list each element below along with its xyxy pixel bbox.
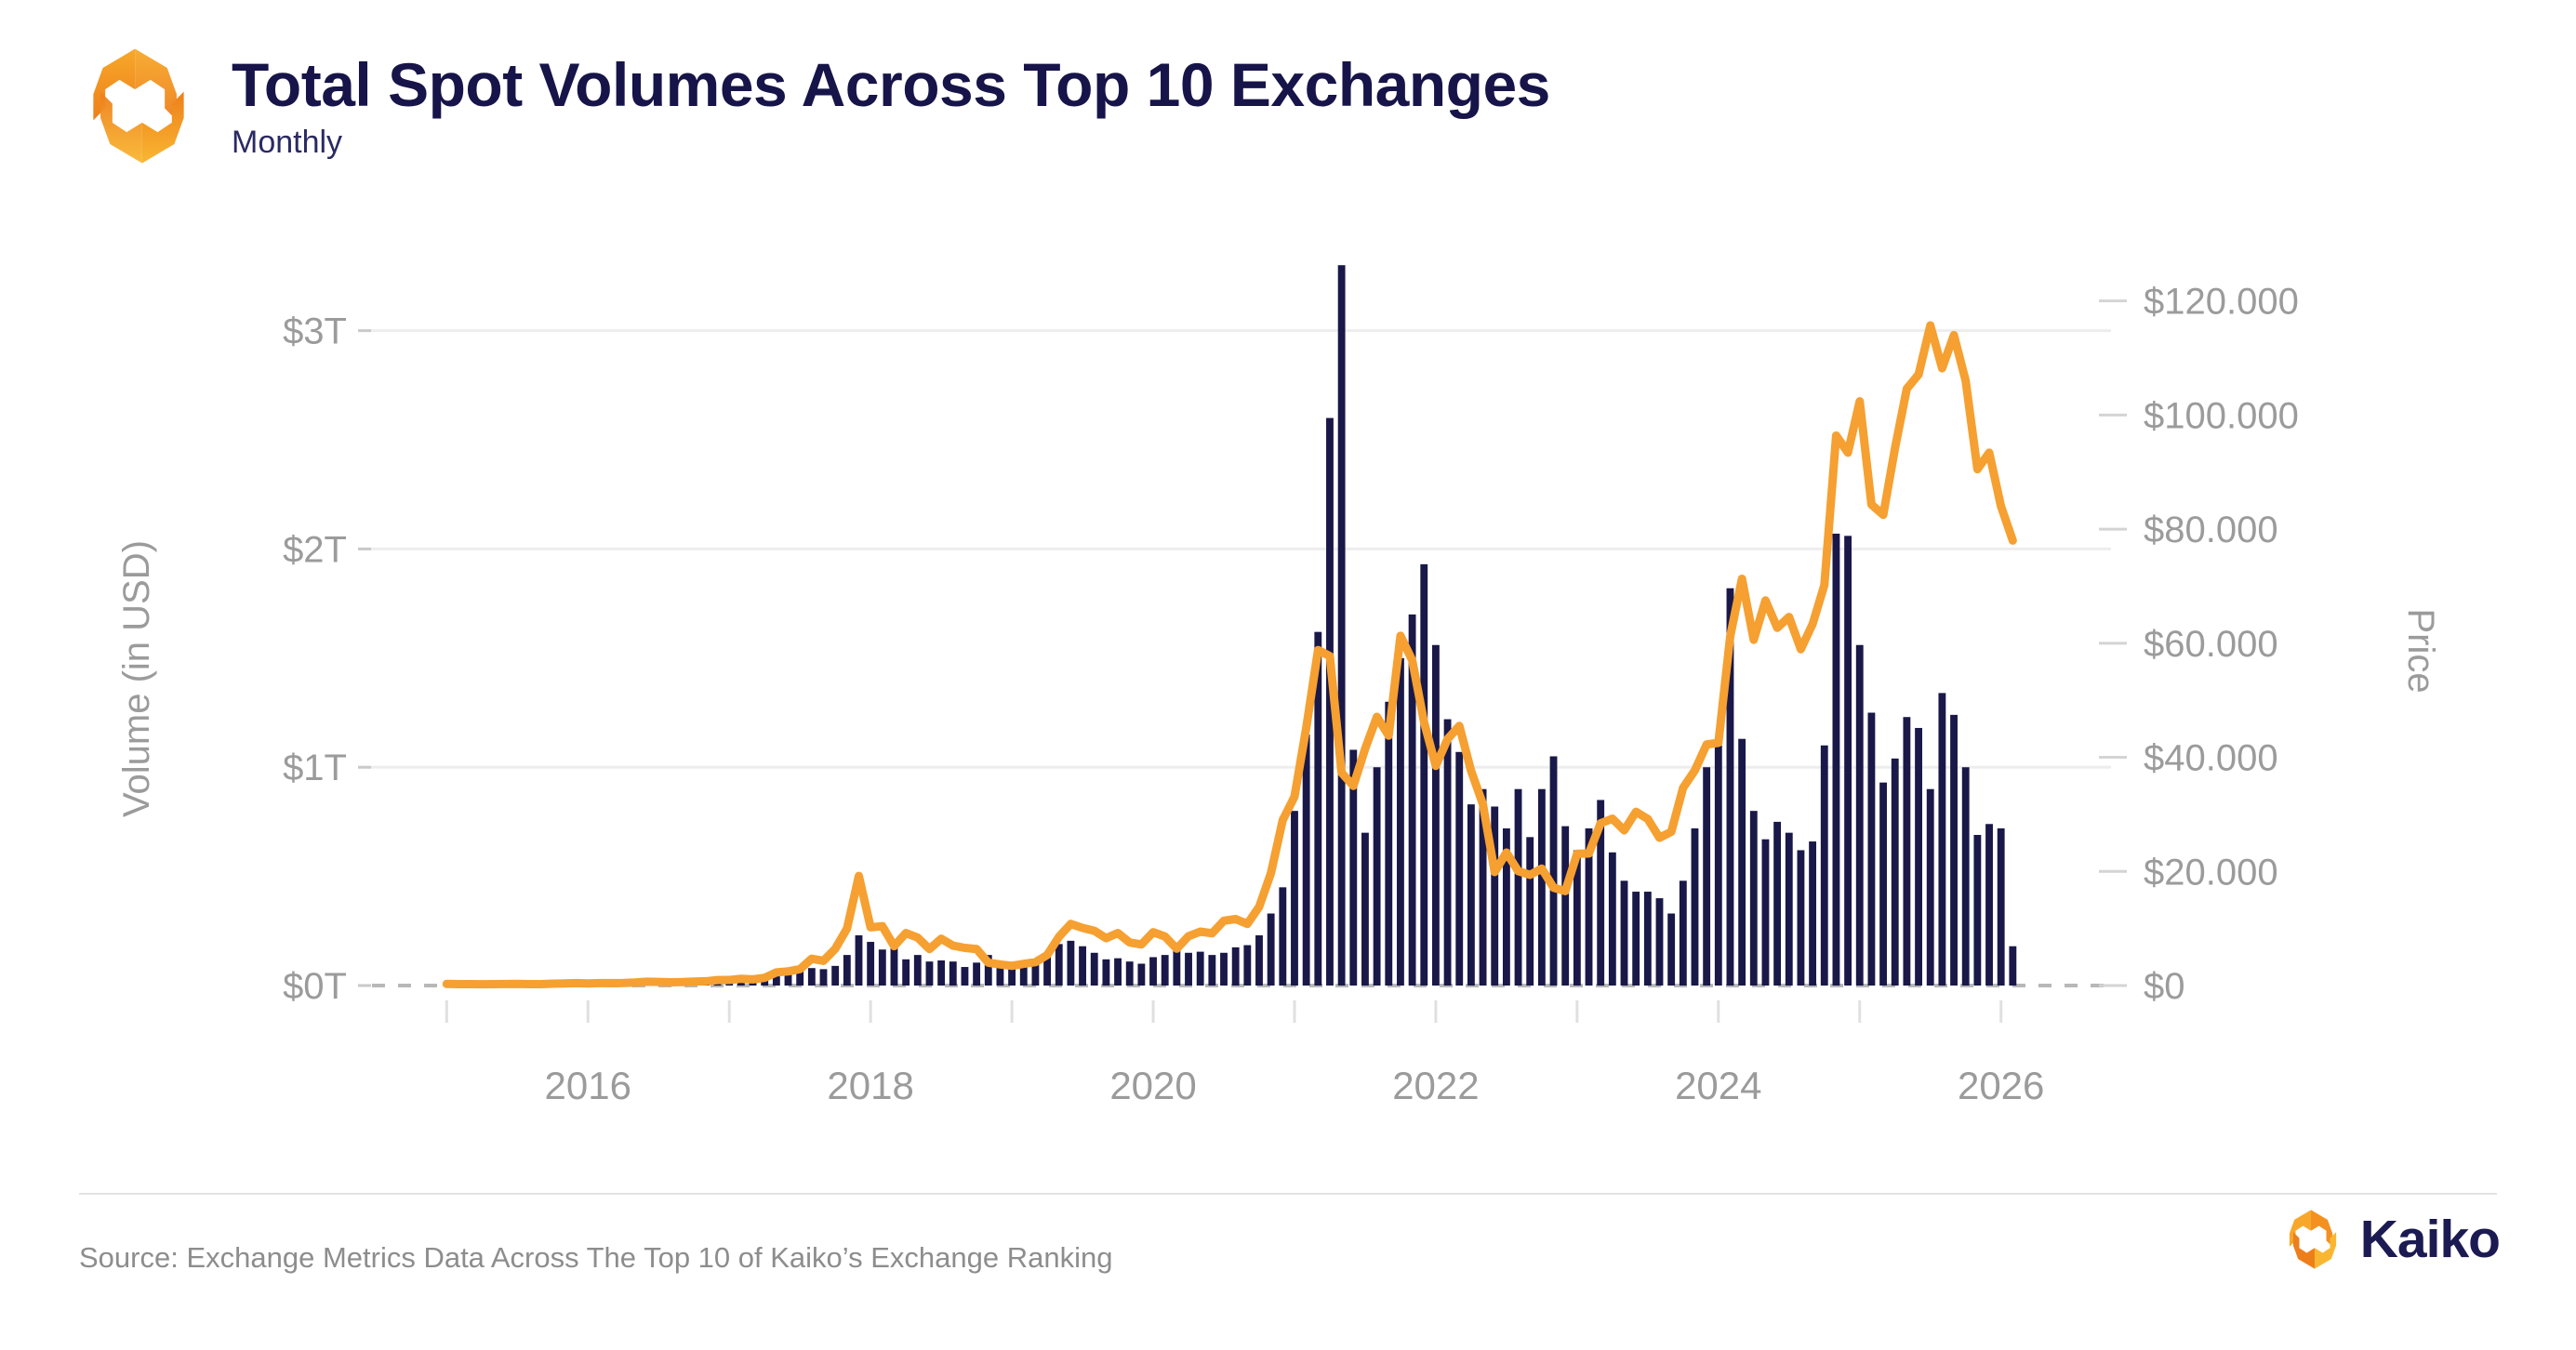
volume-bar xyxy=(1526,837,1534,986)
x-axis-minor-ticks xyxy=(446,1000,2000,1023)
volume-bar xyxy=(973,962,980,986)
volume-bar xyxy=(1149,957,1157,986)
y-axis-right-tick: $0 xyxy=(2144,966,2185,1007)
volume-bar xyxy=(1962,767,1970,986)
volume-bar xyxy=(1137,964,1145,986)
volume-bar xyxy=(1114,959,1122,986)
footer-brand: Kaiko xyxy=(2282,1209,2500,1270)
volume-bar xyxy=(1243,946,1251,986)
volume-bar xyxy=(867,942,874,986)
volume-bar xyxy=(1126,961,1134,986)
volume-bar xyxy=(1279,887,1286,986)
volume-bar xyxy=(1703,767,1710,986)
volume-bar xyxy=(1444,720,1452,986)
volume-bar xyxy=(1667,914,1675,986)
brand-wordmark: Kaiko xyxy=(2360,1213,2500,1266)
source-note: Source: Exchange Metrics Data Across The… xyxy=(79,1241,1112,1275)
volume-bar xyxy=(1173,947,1180,986)
volume-bar xyxy=(1550,756,1558,986)
x-axis-labels: 201620182020202220242026 xyxy=(545,1064,2045,1107)
volume-bar xyxy=(1420,564,1427,986)
volume-bar xyxy=(820,969,828,986)
volume-bar xyxy=(1621,880,1628,986)
volume-bar xyxy=(1762,840,1770,986)
volume-bar xyxy=(1715,746,1722,986)
x-axis-tick: 2016 xyxy=(545,1064,631,1107)
volume-bar xyxy=(1973,835,1981,986)
volume-bar xyxy=(1950,715,1958,986)
volume-bar xyxy=(1609,853,1616,986)
volume-bar xyxy=(1915,728,1922,986)
volume-bar xyxy=(1374,767,1381,986)
chart-page: Total Spot Volumes Across Top 10 Exchang… xyxy=(0,0,2576,1350)
volume-bar xyxy=(1656,898,1664,986)
volume-bar xyxy=(962,967,969,986)
volume-bar xyxy=(1892,759,1899,986)
volume-bar xyxy=(1338,265,1346,986)
volume-bar xyxy=(1644,892,1652,986)
volume-bar xyxy=(1985,824,1993,986)
volume-bar xyxy=(1056,944,1063,986)
x-axis-tick: 2026 xyxy=(1958,1064,2044,1107)
volume-bar xyxy=(1927,789,1934,986)
footer-divider xyxy=(79,1193,2497,1195)
volume-bar xyxy=(808,968,816,986)
volume-bar xyxy=(1162,955,1169,986)
kaiko-hexagon-logo-icon xyxy=(2282,1209,2344,1270)
x-axis-tick: 2022 xyxy=(1392,1064,1479,1107)
y-axis-right-tick: $100.000 xyxy=(2144,395,2299,436)
y-axis-right-tick: $120.000 xyxy=(2144,282,2299,323)
volume-bar xyxy=(1515,789,1522,986)
volume-bar xyxy=(1832,534,1839,986)
volume-bar xyxy=(1821,746,1828,986)
volume-bar xyxy=(949,961,957,986)
volume-bar xyxy=(1561,827,1569,986)
volume-bar xyxy=(831,966,839,986)
volume-bar xyxy=(1903,717,1910,986)
volume-bar xyxy=(926,961,934,986)
volume-bar xyxy=(1197,952,1204,986)
volume-bar xyxy=(1255,935,1263,986)
volume-bar xyxy=(1998,828,2005,986)
y-axis-left-tick: $3T xyxy=(283,311,347,352)
volume-bar xyxy=(1773,822,1781,986)
y-axis-right-tick: $80.000 xyxy=(2144,510,2278,550)
volume-bar xyxy=(1809,841,1816,986)
volume-bar xyxy=(879,949,886,986)
y-axis-right-labels: $0$20.000$40.000$60.000$80.000$100.000$1… xyxy=(2099,282,2299,1007)
volume-bar xyxy=(1538,789,1546,986)
y-axis-left-tick: $1T xyxy=(283,748,347,788)
volume-bar xyxy=(1303,735,1310,986)
y-axis-right-tick: $40.000 xyxy=(2144,738,2278,779)
volume-bar xyxy=(1067,941,1074,986)
volume-bar xyxy=(937,960,945,986)
volume-bar xyxy=(902,960,910,986)
chart-plot-area: $0T$1T$2T$3T $0$20.000$40.000$60.000$80.… xyxy=(0,0,2576,1350)
x-axis-tick: 2018 xyxy=(827,1064,913,1107)
volume-bar xyxy=(1867,713,1875,986)
volume-bar xyxy=(1632,892,1640,986)
volume-bar xyxy=(914,955,922,986)
volume-bar xyxy=(1185,953,1192,986)
chart-svg: $0T$1T$2T$3T $0$20.000$40.000$60.000$80.… xyxy=(0,0,2576,1350)
volume-bar xyxy=(1432,645,1440,986)
y-axis-left-tick: $2T xyxy=(283,529,347,570)
volume-bar xyxy=(1692,828,1699,986)
volume-bar xyxy=(1361,833,1369,986)
volume-bar xyxy=(2009,946,2016,986)
volume-bar xyxy=(856,935,863,986)
x-axis-tick: 2024 xyxy=(1675,1064,1761,1107)
volume-bar xyxy=(1680,880,1687,986)
volume-bar xyxy=(1879,783,1887,986)
volume-bar xyxy=(1467,804,1475,986)
volume-bar xyxy=(1091,953,1098,986)
volume-bar xyxy=(1844,536,1852,986)
volume-bar xyxy=(1208,955,1215,986)
volume-bar xyxy=(1738,739,1746,986)
volume-bar xyxy=(1020,966,1028,986)
volume-bar xyxy=(1268,914,1275,986)
volume-bar xyxy=(1750,811,1758,986)
volume-bar xyxy=(843,955,851,986)
y-axis-left-tick: $0T xyxy=(283,966,347,1007)
y-axis-left-title: Volume (in USD) xyxy=(116,540,157,817)
y-axis-right-title: Price xyxy=(2400,608,2441,693)
volume-bar xyxy=(1938,693,1945,986)
volume-bar xyxy=(1455,752,1463,986)
volume-bar xyxy=(1397,658,1404,986)
volume-bar xyxy=(1798,850,1805,986)
x-axis-tick: 2020 xyxy=(1109,1064,1196,1107)
volume-bar xyxy=(1220,953,1228,986)
volume-bar xyxy=(1232,947,1240,986)
y-axis-right-tick: $60.000 xyxy=(2144,624,2278,665)
y-axis-left-labels: $0T$1T$2T$3T xyxy=(283,311,347,1007)
volume-bar xyxy=(1385,702,1392,986)
volume-bar xyxy=(1291,811,1298,986)
y-axis-right-tick: $20.000 xyxy=(2144,852,2278,893)
volume-bar xyxy=(1079,946,1086,986)
volume-bar xyxy=(891,947,898,986)
volume-bar xyxy=(1102,960,1109,986)
volume-bar xyxy=(1856,645,1864,986)
volume-bar xyxy=(1786,833,1793,986)
